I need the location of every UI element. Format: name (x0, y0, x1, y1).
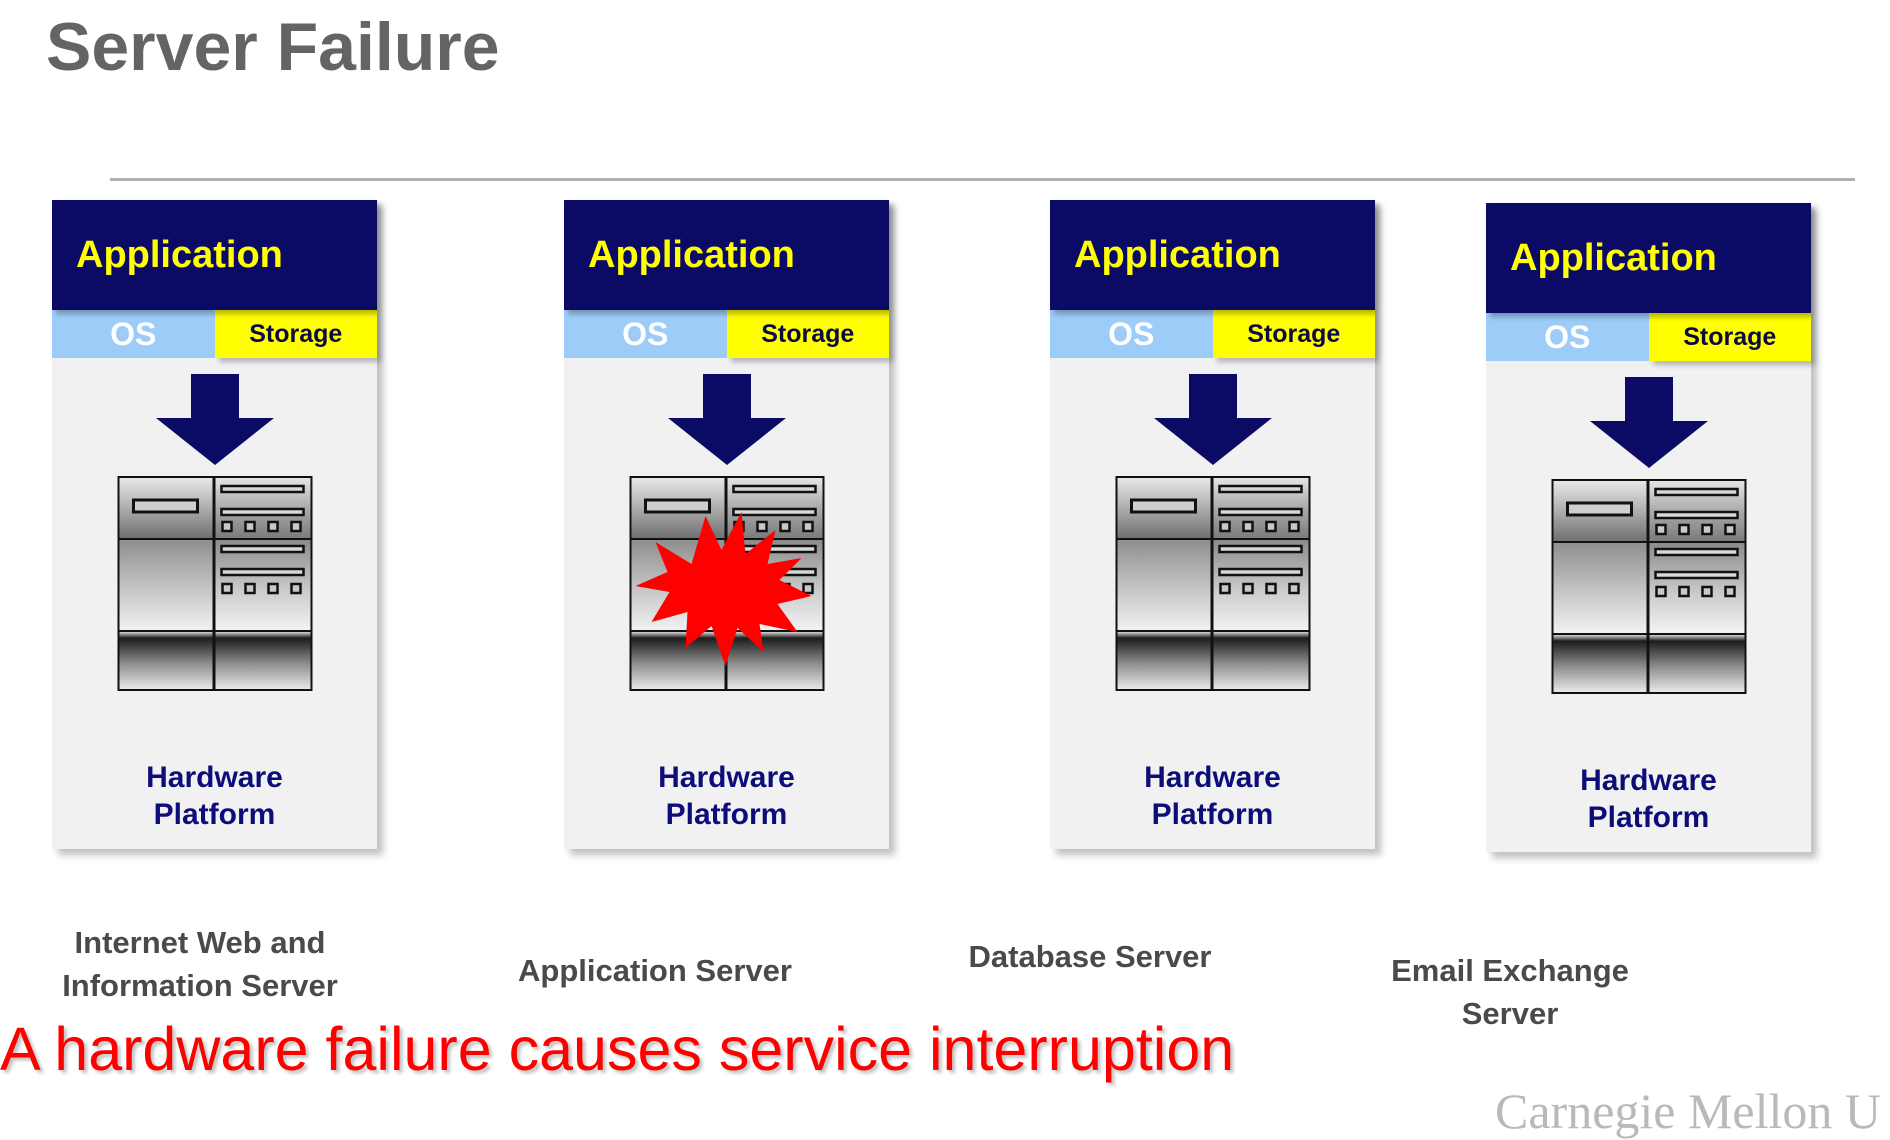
os-box: OS (52, 310, 215, 358)
hardware-body (1050, 358, 1375, 760)
hardware-label-line1: Hardware (1050, 760, 1375, 797)
os-label: OS (1108, 316, 1154, 353)
title-divider (110, 178, 1855, 181)
server-caption-2: Database Server (890, 936, 1290, 979)
application-label: Application (1074, 234, 1281, 277)
storage-box: Storage (1213, 310, 1376, 358)
failure-tagline: A hardware failure causes service interr… (0, 1014, 1600, 1084)
server-stack-0[interactable]: Application OS Storage (52, 200, 377, 849)
os-storage-band: OS Storage (52, 310, 377, 358)
server-caption-1: Application Server (455, 950, 855, 993)
hardware-label-line1: Hardware (1486, 763, 1811, 800)
os-label: OS (622, 316, 668, 353)
hardware-platform-label: Hardware Platform (1050, 760, 1375, 849)
hardware-label-line1: Hardware (52, 760, 377, 797)
hardware-body (1486, 361, 1811, 763)
os-storage-band: OS Storage (1486, 313, 1811, 361)
storage-box: Storage (215, 310, 378, 358)
storage-label: Storage (1683, 323, 1776, 352)
storage-box: Storage (1649, 313, 1812, 361)
page-title: Server Failure (46, 8, 500, 86)
caption-line1: Email Exchange (1310, 950, 1710, 993)
storage-label: Storage (249, 320, 342, 349)
application-label: Application (588, 234, 795, 277)
application-label: Application (1510, 237, 1717, 280)
down-arrow-icon (667, 374, 787, 466)
server-rack-icon (1551, 479, 1746, 694)
os-storage-band: OS Storage (1050, 310, 1375, 358)
application-band: Application (52, 200, 377, 310)
storage-label: Storage (1247, 320, 1340, 349)
os-storage-band: OS Storage (564, 310, 889, 358)
caption-line2: Information Server (0, 965, 400, 1008)
down-arrow-icon (1153, 374, 1273, 466)
hardware-platform-label: Hardware Platform (52, 760, 377, 849)
application-band: Application (1486, 203, 1811, 313)
hardware-platform-label: Hardware Platform (1486, 763, 1811, 852)
os-box: OS (1486, 313, 1649, 361)
hardware-label-line2: Platform (52, 797, 377, 834)
hardware-label-line2: Platform (1486, 800, 1811, 837)
hardware-body (52, 358, 377, 760)
server-rack-icon (1115, 476, 1310, 691)
hardware-label-line2: Platform (1050, 797, 1375, 834)
hardware-label-line2: Platform (564, 797, 889, 834)
hardware-platform-label: Hardware Platform (564, 760, 889, 849)
application-band: Application (564, 200, 889, 310)
caption-line1: Internet Web and (0, 922, 400, 965)
storage-box: Storage (727, 310, 890, 358)
server-stack-3[interactable]: Application OS Storage (1486, 203, 1811, 852)
os-box: OS (1050, 310, 1213, 358)
os-label: OS (110, 316, 156, 353)
server-rack-icon (629, 476, 824, 691)
application-band: Application (1050, 200, 1375, 310)
server-caption-0: Internet Web and Information Server (0, 922, 400, 1008)
down-arrow-icon (155, 374, 275, 466)
hardware-label-line1: Hardware (564, 760, 889, 797)
caption-line1: Database Server (890, 936, 1290, 979)
caption-line1: Application Server (455, 950, 855, 993)
server-stack-2[interactable]: Application OS Storage (1050, 200, 1375, 849)
down-arrow-icon (1589, 377, 1709, 469)
carnegie-mellon-wordmark: Carnegie Mellon U (1495, 1082, 1881, 1140)
os-box: OS (564, 310, 727, 358)
os-label: OS (1544, 319, 1590, 356)
server-rack-icon (117, 476, 312, 691)
application-label: Application (76, 234, 283, 277)
hardware-body (564, 358, 889, 760)
server-stack-1[interactable]: Application OS Storage (564, 200, 889, 849)
storage-label: Storage (761, 320, 854, 349)
